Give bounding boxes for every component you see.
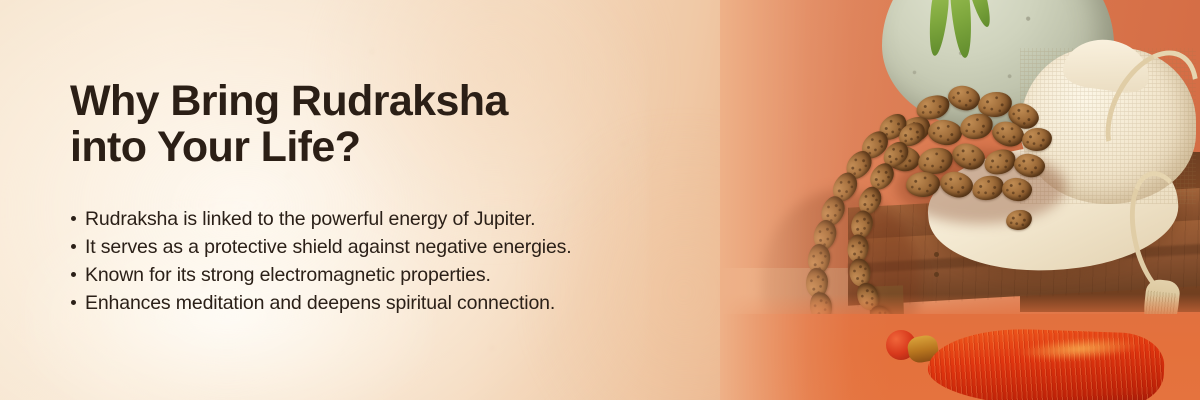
- list-item: It serves as a protective shield against…: [70, 233, 572, 261]
- bullet-dot-icon: [71, 300, 76, 305]
- list-item-label: Known for its strong electromagnetic pro…: [85, 261, 491, 289]
- list-item: Rudraksha is linked to the powerful ener…: [70, 205, 572, 233]
- rudraksha-promo-banner: Why Bring Rudraksha into Your Life? Rudr…: [0, 0, 1200, 400]
- product-photo: [720, 0, 1200, 400]
- bullet-dot-icon: [71, 216, 76, 221]
- red-tassel: [927, 326, 1166, 400]
- bullet-dot-icon: [71, 244, 76, 249]
- wood-nail: [934, 272, 939, 277]
- bullet-dot-icon: [71, 272, 76, 277]
- list-item-label: Enhances meditation and deepens spiritua…: [85, 289, 555, 317]
- list-item: Known for its strong electromagnetic pro…: [70, 261, 572, 289]
- wood-nail: [934, 252, 939, 257]
- benefits-list: Rudraksha is linked to the powerful ener…: [70, 205, 572, 317]
- page-title: Why Bring Rudraksha into Your Life?: [70, 78, 508, 170]
- list-item: Enhances meditation and deepens spiritua…: [70, 289, 572, 317]
- banner-content: Why Bring Rudraksha into Your Life? Rudr…: [70, 0, 730, 400]
- list-item-label: It serves as a protective shield against…: [85, 233, 572, 261]
- list-item-label: Rudraksha is linked to the powerful ener…: [85, 205, 535, 233]
